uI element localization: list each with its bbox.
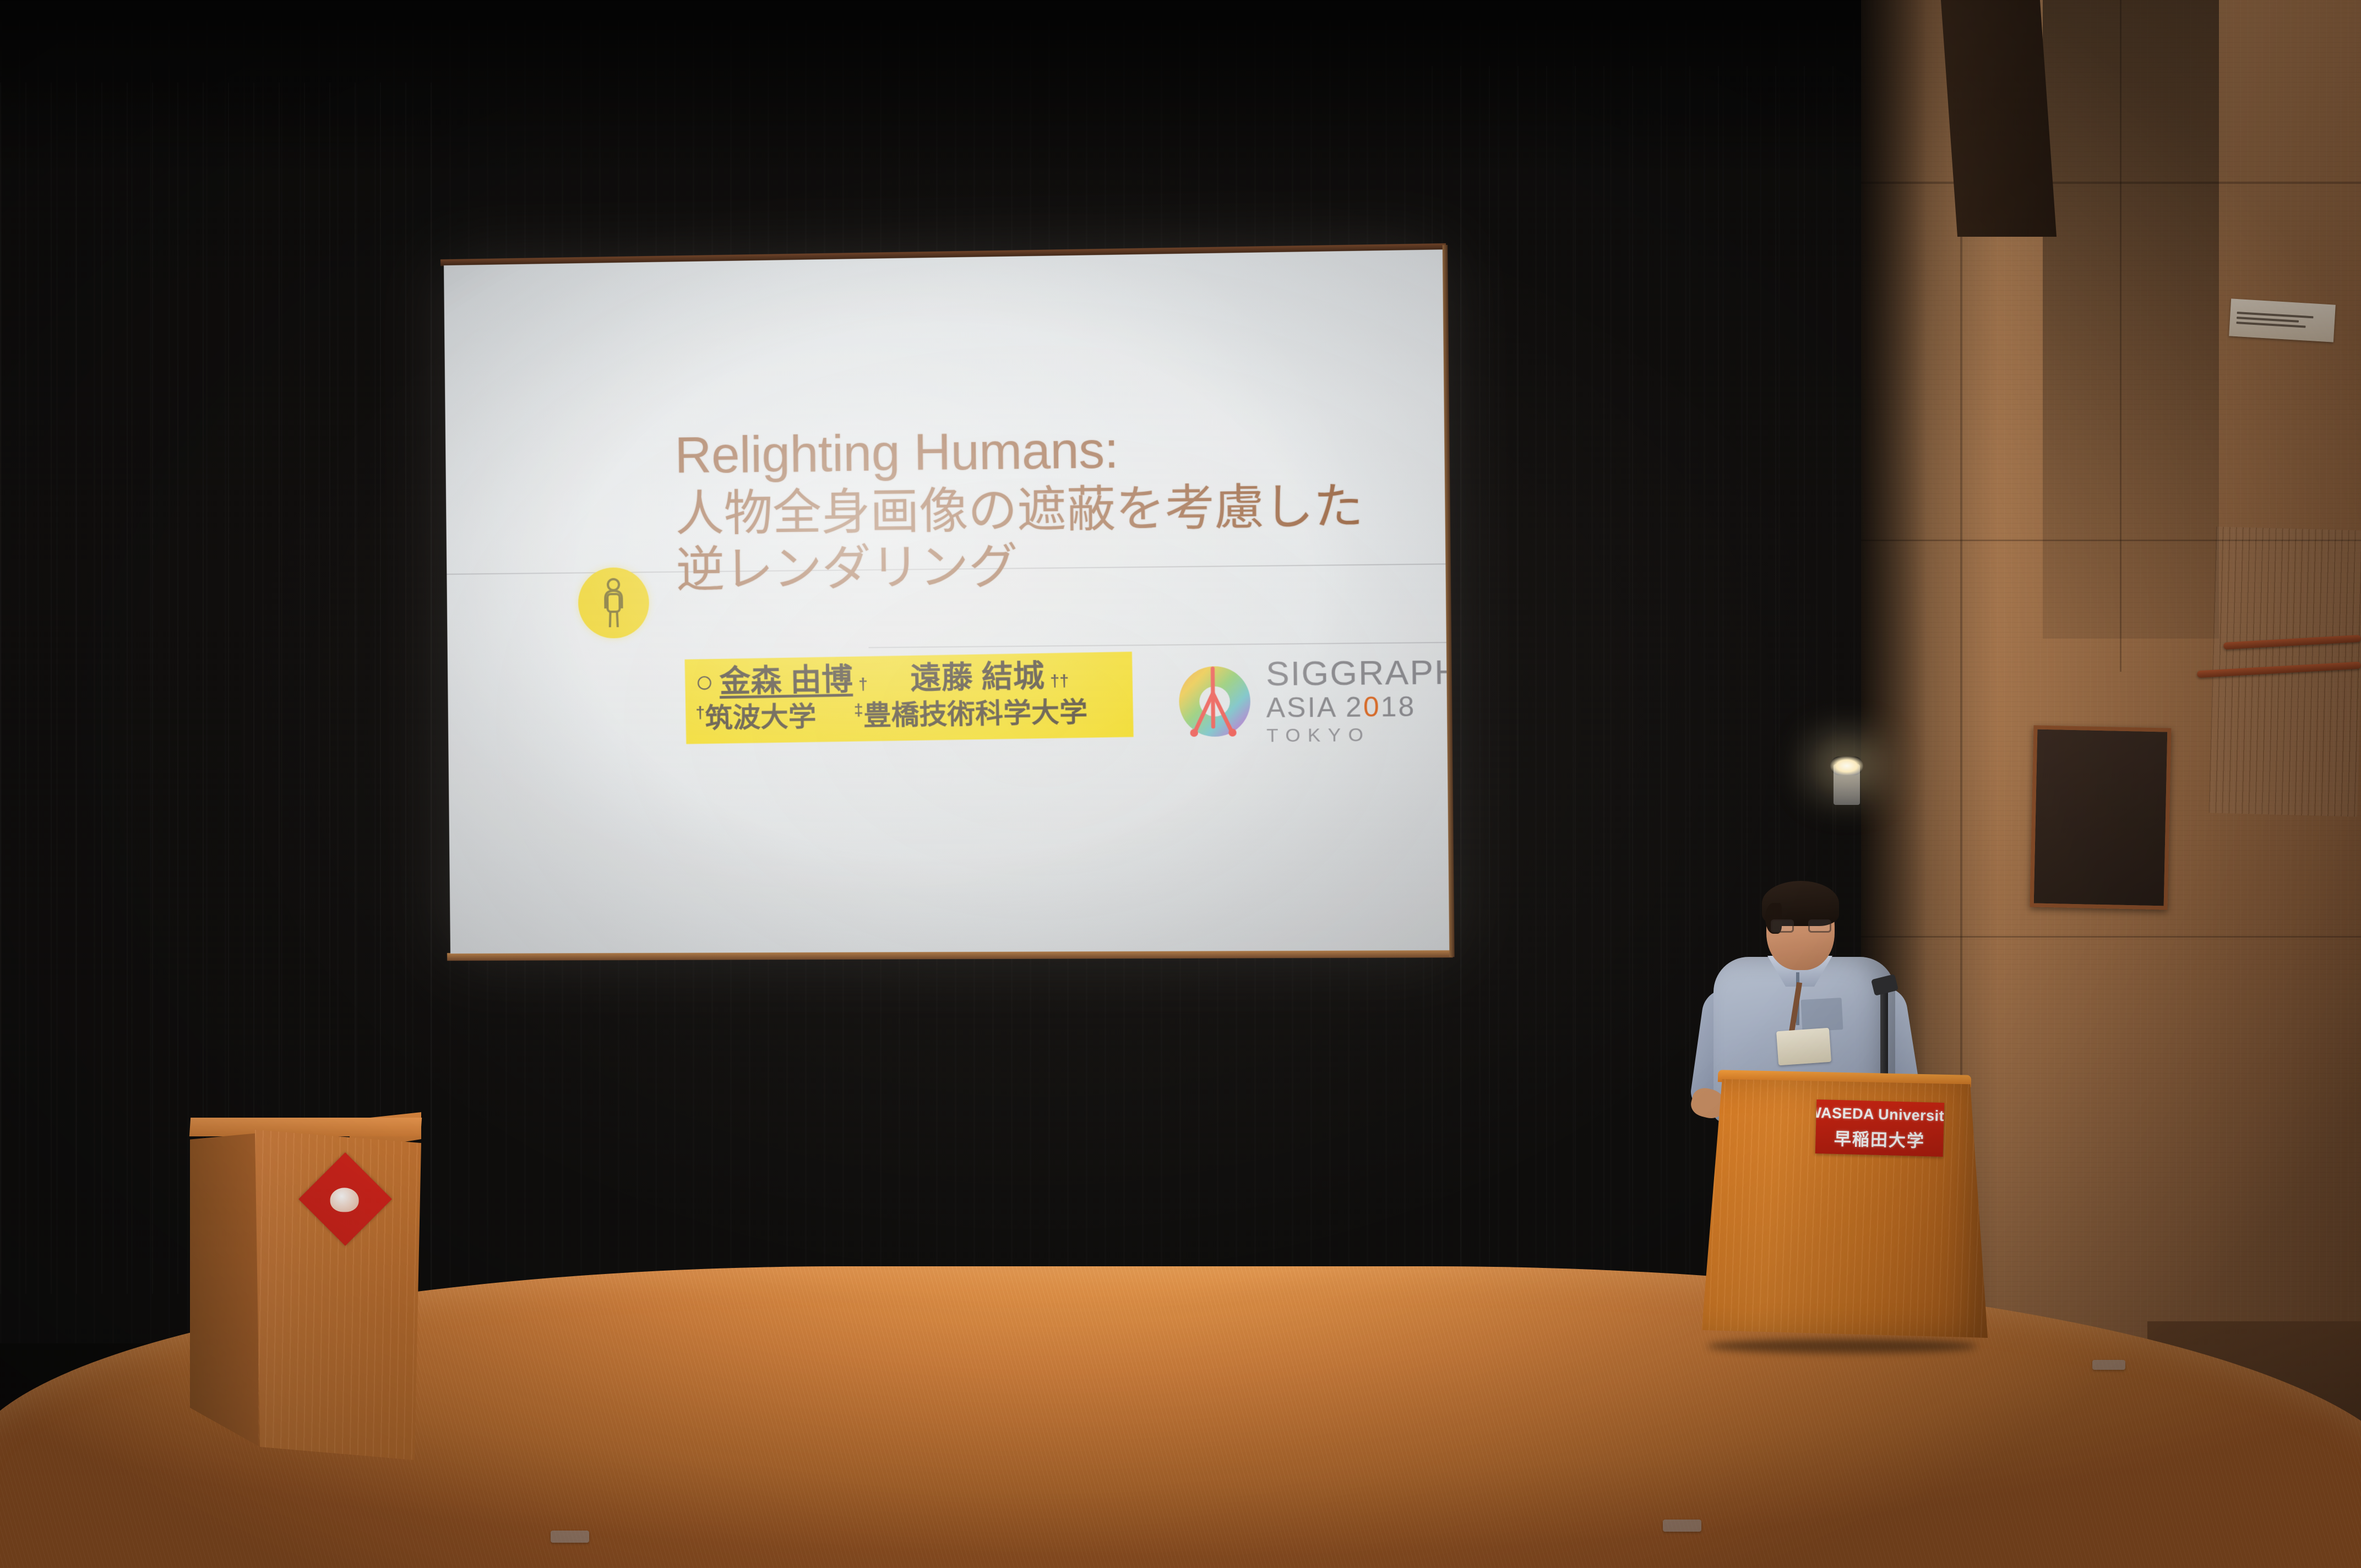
presentation-slide: Relighting Humans: 人物全身画像の遮蔽を考慮した 逆レンダリン…: [444, 249, 1449, 954]
waseda-university-sign: WASEDA University 早稲田大学: [1815, 1099, 1944, 1157]
logo-line-tokyo: TOKYO: [1266, 725, 1449, 745]
slide-author-line: ○金森 由博† 遠藤 結城††: [695, 657, 1125, 699]
logo-line-siggraph: SIGGRAPH: [1266, 655, 1449, 692]
slide-author-box: ○金森 由博† 遠藤 結城†† †筑波大学 ‡豊橋技術科学大学: [685, 652, 1134, 744]
affiliation-marker-2: ‡: [854, 701, 864, 720]
coauthor-dagger: ††: [1050, 672, 1069, 691]
author-spacer: [873, 689, 905, 689]
floor-marker: [551, 1531, 589, 1543]
wooden-lectern: [190, 1118, 421, 1464]
presenter-name: 金森 由博: [719, 662, 853, 699]
slide-title-japanese-line1: 人物全身画像の遮蔽を考慮した: [675, 477, 1423, 541]
lectern-top-surface: [189, 1118, 422, 1136]
lectern-side-panel: [190, 1133, 258, 1452]
presenter-dagger: †: [858, 675, 868, 694]
siggraph-asia-wordmark: SIGGRAPH ASIA 2018 TOKYO: [1266, 655, 1449, 745]
projection-screen: Relighting Humans: 人物全身画像の遮蔽を考慮した 逆レンダリン…: [444, 249, 1449, 954]
presentation-photo-scene: Relighting Humans: 人物全身画像の遮蔽を考慮した 逆レンダリン…: [0, 0, 2361, 1568]
plaque-text-line: [2236, 322, 2305, 328]
affiliation-1: 筑波大学: [705, 701, 817, 734]
floor-marker: [1663, 1520, 1701, 1532]
logo-year-zero: 0: [1363, 691, 1381, 722]
wall-lamp: [1834, 764, 1860, 805]
dark-wall-panel: [2030, 725, 2172, 910]
podium-shadow: [1707, 1339, 1977, 1353]
logo-year-suffix: 18: [1380, 691, 1416, 722]
siggraph-asia-logo: SIGGRAPH ASIA 2018 TOKYO: [1172, 630, 1411, 771]
slide-title-block: Relighting Humans: 人物全身画像の遮蔽を考慮した 逆レンダリン…: [674, 418, 1423, 597]
wall-notice-plaque: [2229, 298, 2336, 342]
stage-curtain-left: [0, 83, 451, 1294]
speaker-shirt-pocket: [1801, 998, 1843, 1032]
slide-title-japanese-line2: 逆レンダリング: [676, 534, 1423, 597]
waseda-sign-japanese: 早稲田大学: [1834, 1124, 1925, 1151]
waseda-sign-english: WASEDA University: [1815, 1104, 1944, 1125]
affiliation-spacer: [824, 725, 847, 726]
siggraph-asia-mark-icon: [1172, 659, 1258, 743]
wall-cast-shadow: [2043, 0, 2219, 639]
presenter-marker: ○: [695, 665, 714, 700]
speaker-name-badge: [1776, 1028, 1831, 1066]
lectern-crest-icon: [330, 1188, 358, 1212]
slide-title-english: Relighting Humans:: [674, 418, 1422, 485]
ceiling-duct: [1941, 0, 2057, 237]
speaker-glasses-icon: [1771, 919, 1831, 933]
affiliation-marker-1: †: [695, 704, 705, 722]
logo-asia-prefix: ASIA 2: [1266, 692, 1363, 723]
speaker-podium: WASEDA University 早稲田大学: [1696, 1079, 1988, 1349]
floor-marker: [2092, 1360, 2125, 1370]
slide-affiliation-line: †筑波大学 ‡豊橋技術科学大学: [695, 695, 1125, 735]
affiliation-2: 豊橋技術科学大学: [863, 696, 1087, 731]
coauthor-name: 遠藤 結城: [910, 659, 1045, 696]
standing-person-icon: [578, 567, 650, 639]
logo-line-asia-year: ASIA 2018: [1266, 692, 1449, 722]
